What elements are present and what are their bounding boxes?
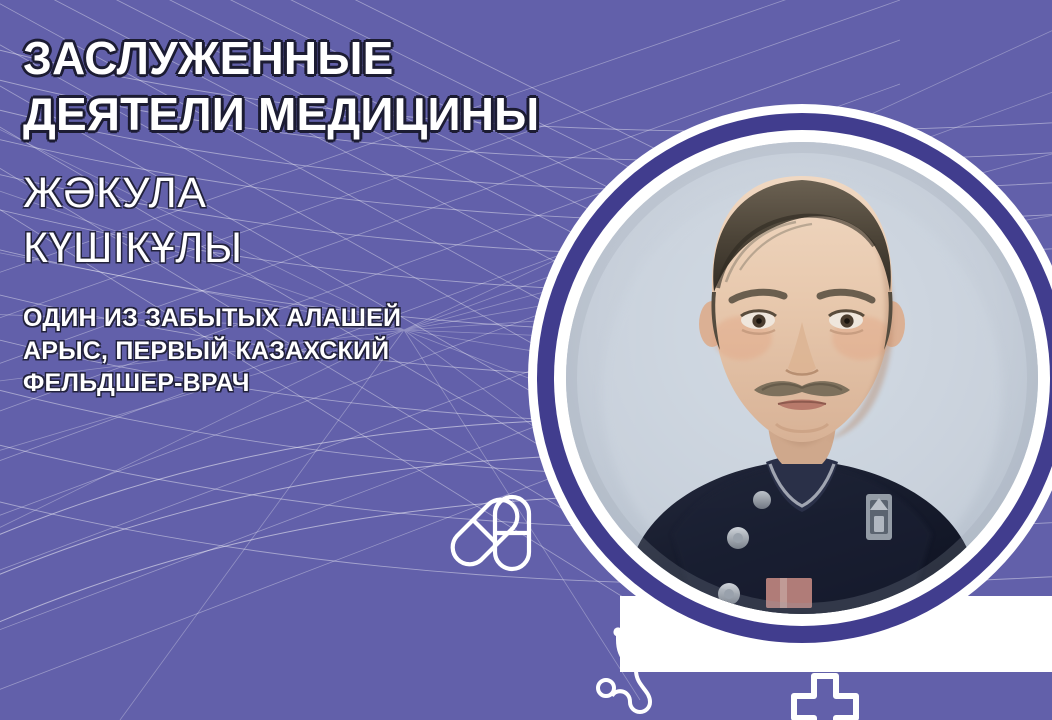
pills-icon <box>443 478 547 576</box>
title-line-2: ДЕЯТЕЛИ МЕДИЦИНЫ <box>23 86 643 142</box>
poster-canvas: ЗАСЛУЖЕННЫЕ ДЕЯТЕЛИ МЕДИЦИНЫ ЖӘКУЛА КҮШІ… <box>0 0 1052 720</box>
text-column: ЗАСЛУЖЕННЫЕ ДЕЯТЕЛИ МЕДИЦИНЫ ЖӘКУЛА КҮШІ… <box>23 30 643 400</box>
person-name-line-2: КҮШІКҰЛЫ <box>23 221 643 276</box>
title-line-1: ЗАСЛУЖЕННЫЕ <box>23 30 643 86</box>
person-name-line-1: ЖӘКУЛА <box>23 166 643 221</box>
page-title: ЗАСЛУЖЕННЫЕ ДЕЯТЕЛИ МЕДИЦИНЫ <box>23 30 643 142</box>
stethoscope-icon <box>592 626 678 720</box>
medical-cross-icon <box>790 672 860 720</box>
person-name: ЖӘКУЛА КҮШІКҰЛЫ <box>23 166 643 276</box>
subtitle-description: ОДИН ИЗ ЗАБЫТЫХ АЛАШЕЙ АРЫС, ПЕРВЫЙ КАЗА… <box>23 302 453 400</box>
